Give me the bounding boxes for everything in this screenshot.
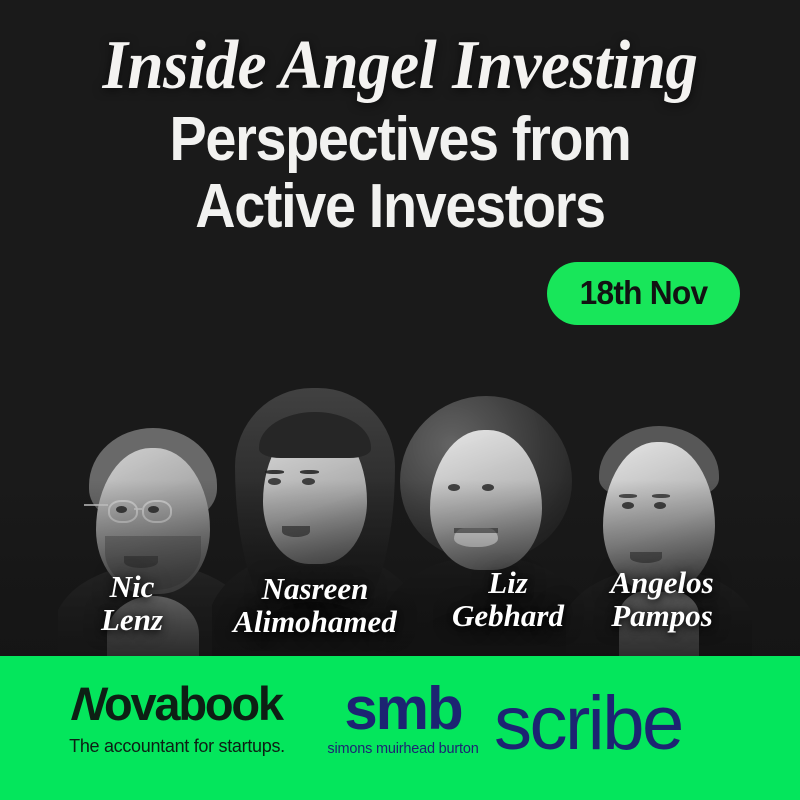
speaker-portrait-angelos-pampos (566, 410, 752, 660)
sponsor-logo-smb[interactable]: smb simons muirhead burton (318, 680, 488, 757)
speaker-portrait-strip (0, 330, 800, 660)
date-badge[interactable]: 18th Nov (547, 262, 740, 325)
event-poster: Inside Angel Investing Perspectives from… (0, 0, 800, 800)
smb-wordmark: smb (318, 680, 488, 737)
novabook-tagline: The accountant for startups. (52, 736, 302, 757)
speaker-portrait-liz-gebhard (386, 388, 586, 660)
smb-tagline: simons muirhead burton (318, 741, 488, 757)
sponsor-banner: Novabook The accountant for startups. sm… (0, 656, 800, 800)
poster-title-script: Inside Angel Investing (28, 30, 772, 103)
headline-block: Inside Angel Investing Perspectives from… (0, 30, 800, 241)
sponsor-logo-scribe[interactable]: scribe (494, 686, 744, 762)
sponsor-logo-novabook[interactable]: Novabook The accountant for startups. (52, 680, 302, 757)
date-badge-wrapper: 18th Nov (543, 262, 744, 325)
novabook-n-glyph: N (70, 680, 107, 727)
poster-subtitle-line-2: Active Investors (40, 174, 760, 241)
novabook-wordmark: Novabook (52, 680, 302, 727)
novabook-wordmark-rest: ovabook (104, 677, 282, 730)
poster-subtitle-line-1: Perspectives from (40, 107, 760, 174)
scribe-wordmark: scribe (494, 686, 744, 762)
